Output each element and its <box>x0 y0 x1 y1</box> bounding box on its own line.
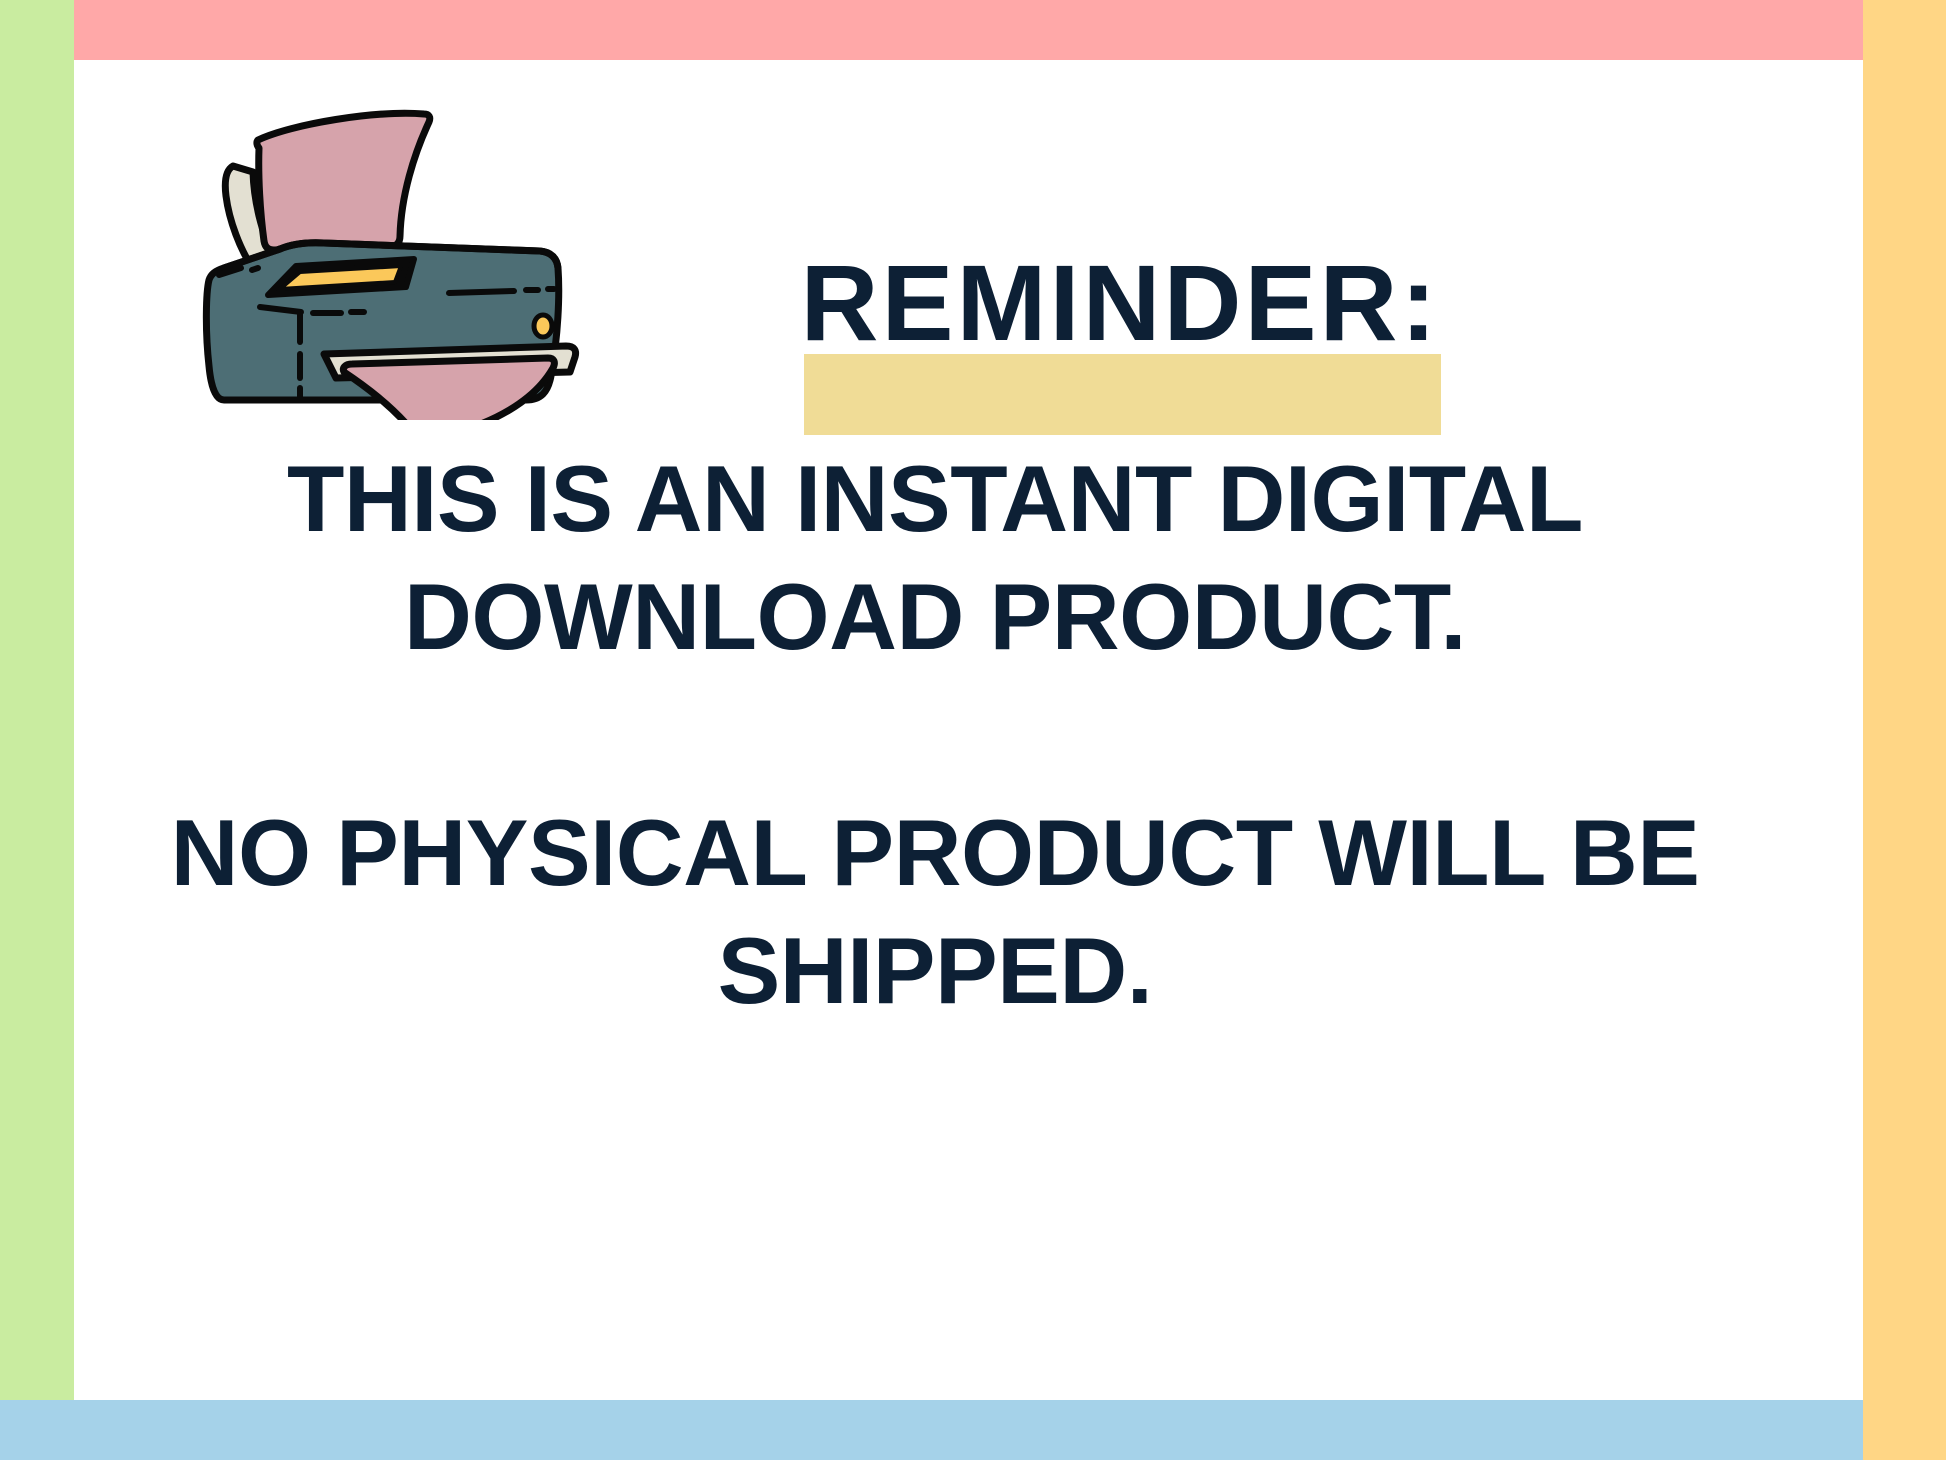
top-pink-band <box>74 0 1863 60</box>
poster-canvas: REMINDER: THIS IS AN INSTANT DIGITAL DOW… <box>0 0 1946 1460</box>
printer-icon <box>196 100 616 420</box>
left-green-band <box>0 0 74 1400</box>
body-paragraph-1: THIS IS AN INSTANT DIGITAL DOWNLOAD PROD… <box>130 440 1740 676</box>
heading-block: REMINDER: <box>640 228 1600 378</box>
page-title: REMINDER: <box>640 228 1600 378</box>
body-paragraph-2: NO PHYSICAL PRODUCT WILL BE SHIPPED. <box>130 794 1740 1030</box>
right-yellow-band <box>1863 0 1946 1460</box>
bottom-blue-band <box>0 1400 1863 1460</box>
body-copy: THIS IS AN INSTANT DIGITAL DOWNLOAD PROD… <box>130 440 1740 1030</box>
paragraph-spacer <box>130 676 1740 794</box>
